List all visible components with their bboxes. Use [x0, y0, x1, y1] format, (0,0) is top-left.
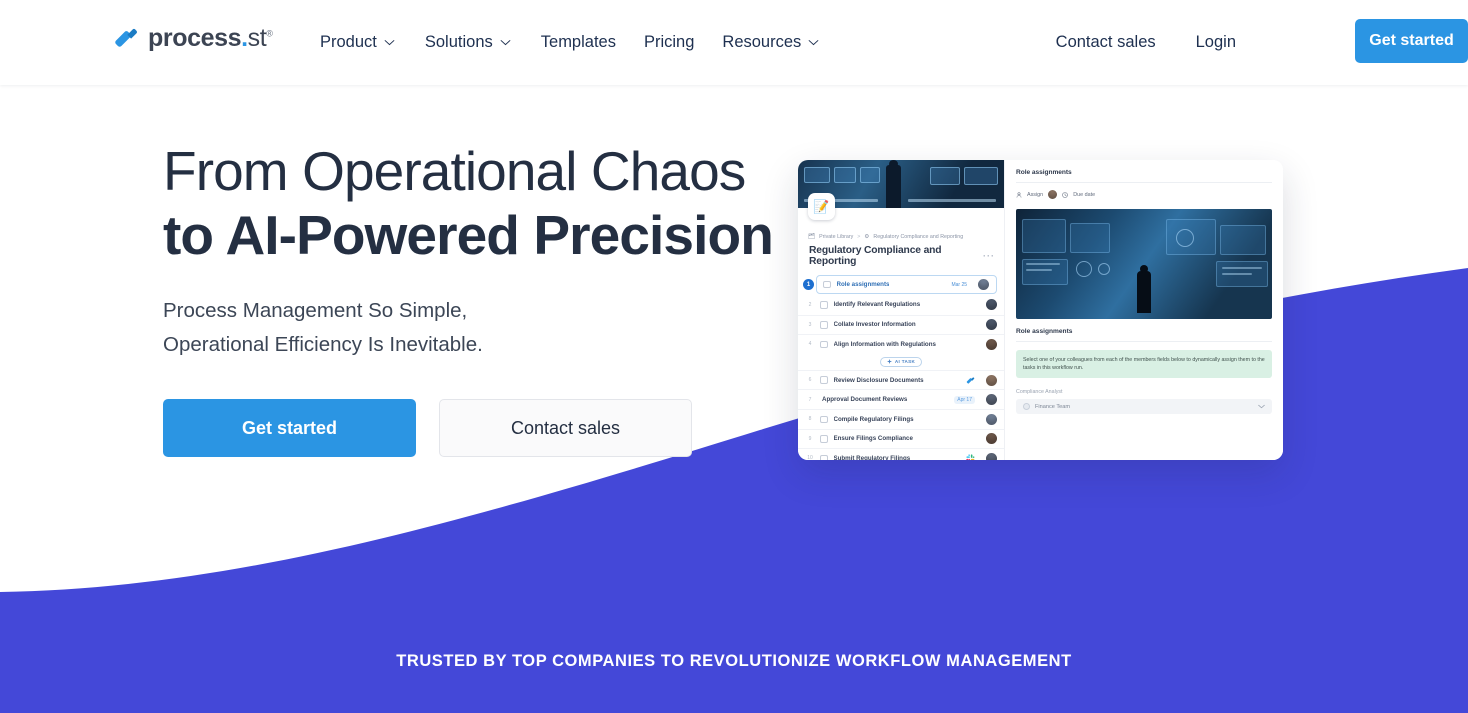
- nav-label-templates: Templates: [541, 33, 616, 52]
- task-label: Collate Investor Information: [834, 321, 916, 328]
- trusted-by-text: TRUSTED BY TOP COMPANIES TO REVOLUTIONIZ…: [396, 652, 1072, 671]
- divider: [1016, 182, 1272, 183]
- detail-meta-row: Assign Due date: [1016, 190, 1272, 199]
- task-detail-panel: Role assignments Assign Due date: [1005, 160, 1283, 460]
- task-number: 10: [806, 455, 814, 460]
- hero-get-started-button[interactable]: Get started: [163, 399, 416, 457]
- ai-task-badge-row: AI Task: [798, 354, 1004, 370]
- brand-name-suffix: st: [248, 24, 267, 52]
- task-row[interactable]: 3 Collate Investor Information: [798, 315, 1004, 335]
- breadcrumb-library[interactable]: Private Library: [819, 234, 853, 240]
- clock-icon: [1062, 192, 1068, 198]
- hero-section: From Operational Chaos to AI-Powered Pre…: [163, 140, 823, 457]
- avatar[interactable]: [1048, 190, 1057, 199]
- avatar[interactable]: [986, 394, 997, 405]
- workflow-icon: ⚙: [864, 234, 869, 240]
- workflow-doc-icon: 📝: [808, 193, 835, 220]
- slack-icon: [966, 454, 975, 460]
- task-row[interactable]: 2 Identify Relevant Regulations: [798, 295, 1004, 315]
- task-number: 6: [806, 377, 814, 383]
- task-number: 7: [806, 397, 814, 403]
- task-checkbox[interactable]: [820, 321, 828, 329]
- task-row[interactable]: 6 Review Disclosure Documents: [798, 370, 1004, 390]
- chevron-down-icon: [384, 39, 395, 46]
- brand-name-main: process: [148, 24, 241, 52]
- detail-section-heading: Role assignments: [1016, 328, 1272, 335]
- task-label: Identify Relevant Regulations: [834, 301, 921, 308]
- assign-label[interactable]: Assign: [1027, 192, 1043, 198]
- task-label: Align Information with Regulations: [834, 341, 936, 348]
- nav-item-templates[interactable]: Templates: [541, 25, 616, 60]
- chevron-down-icon: [1258, 404, 1265, 409]
- nav-label-pricing: Pricing: [644, 33, 694, 52]
- task-label: Submit Regulatory Filings: [834, 455, 911, 460]
- task-number: 8: [806, 416, 814, 422]
- main-navigation: Product Solutions Templates Pricing: [320, 0, 835, 85]
- task-number: 2: [806, 302, 814, 308]
- avatar-placeholder-icon: [1023, 403, 1030, 410]
- task-row[interactable]: 9 Ensure Filings Compliance: [798, 429, 1004, 449]
- task-row[interactable]: 7 Approval Document Reviews Apr 17: [798, 389, 1004, 409]
- brand-logo[interactable]: process.st®: [113, 25, 273, 51]
- task-row[interactable]: 10 Submit Regulatory Filings: [798, 448, 1004, 460]
- task-due-date: Apr 17: [954, 396, 975, 404]
- nav-item-solutions[interactable]: Solutions: [425, 25, 527, 60]
- hero-contact-sales-button[interactable]: Contact sales: [439, 399, 692, 457]
- avatar[interactable]: [986, 375, 997, 386]
- task-label: Ensure Filings Compliance: [834, 435, 913, 442]
- workflow-title-text: Regulatory Compliance and Reporting: [809, 245, 983, 267]
- task-list: 1 Role assignments Mar 25 2 Identify Rel…: [798, 275, 1004, 460]
- task-label: Approval Document Reviews: [820, 396, 907, 403]
- due-date-label[interactable]: Due date: [1073, 192, 1095, 198]
- task-number: 9: [806, 436, 814, 442]
- nav-item-pricing[interactable]: Pricing: [644, 25, 694, 60]
- members-select[interactable]: Finance Team: [1016, 399, 1272, 414]
- nav-label-solutions: Solutions: [425, 33, 493, 52]
- task-row[interactable]: 8 Compile Regulatory Filings: [798, 409, 1004, 429]
- task-checkbox[interactable]: [823, 281, 831, 289]
- login-link[interactable]: Login: [1196, 33, 1236, 52]
- avatar[interactable]: [986, 453, 997, 460]
- page-root: process.st® Product Solutions Templates: [0, 0, 1468, 713]
- task-checkbox[interactable]: [820, 301, 828, 309]
- contact-sales-link[interactable]: Contact sales: [1056, 33, 1156, 52]
- avatar[interactable]: [986, 433, 997, 444]
- chevron-down-icon: [808, 39, 819, 46]
- task-checkbox[interactable]: [820, 455, 828, 460]
- task-label: Review Disclosure Documents: [834, 377, 924, 384]
- product-screenshot: 📝 🗂 Private Library > ⚙ Regulatory Compl…: [798, 160, 1283, 460]
- task-checkbox[interactable]: [820, 416, 828, 424]
- avatar[interactable]: [986, 414, 997, 425]
- hero-headline-line2: to AI-Powered Precision: [163, 204, 823, 268]
- hero-subheading: Process Management So Simple, Operationa…: [163, 294, 823, 364]
- brand-wordmark: process.st®: [148, 26, 273, 51]
- breadcrumb: 🗂 Private Library > ⚙ Regulatory Complia…: [808, 234, 1004, 240]
- divider: [1016, 341, 1272, 342]
- person-icon: [1016, 192, 1022, 198]
- avatar[interactable]: [978, 279, 989, 290]
- workflow-task-panel: 📝 🗂 Private Library > ⚙ Regulatory Compl…: [798, 160, 1005, 460]
- hero-headline-line1: From Operational Chaos: [163, 140, 745, 202]
- nav-label-resources: Resources: [722, 33, 801, 52]
- ai-task-badge-label: AI Task: [895, 359, 915, 364]
- hero-subheading-line2: Operational Efficiency Is Inevitable.: [163, 328, 823, 363]
- hero-subheading-line1: Process Management So Simple,: [163, 294, 823, 329]
- instruction-note-line1: Select one of your colleagues from each …: [1023, 357, 1191, 363]
- field-value: Finance Team: [1035, 404, 1070, 410]
- ai-task-badge[interactable]: AI Task: [880, 357, 922, 367]
- task-row[interactable]: Role assignments Mar 25: [816, 275, 997, 294]
- brand-registered-mark: ®: [266, 28, 272, 38]
- detail-hero-image: [1016, 209, 1272, 319]
- avatar[interactable]: [986, 319, 997, 330]
- task-checkbox[interactable]: [820, 341, 828, 349]
- trusted-by-banner: TRUSTED BY TOP COMPANIES TO REVOLUTIONIZ…: [0, 600, 1468, 713]
- task-label: Compile Regulatory Filings: [834, 416, 914, 423]
- ai-sparkle-icon: [887, 359, 892, 364]
- nav-label-product: Product: [320, 33, 377, 52]
- task-label: Role assignments: [837, 281, 890, 288]
- workflow-more-menu-icon[interactable]: ···: [983, 251, 995, 261]
- breadcrumb-current: Regulatory Compliance and Reporting: [873, 234, 963, 240]
- breadcrumb-separator: >: [857, 234, 860, 240]
- task-checkbox[interactable]: [820, 376, 828, 384]
- field-label: Compliance Analyst: [1016, 389, 1272, 395]
- workflow-title: Regulatory Compliance and Reporting ···: [809, 245, 995, 267]
- avatar[interactable]: [986, 299, 997, 310]
- task-row[interactable]: 4 Align Information with Regulations: [798, 334, 1004, 354]
- process-st-logo-icon: [966, 376, 975, 385]
- task-due-date: Mar 25: [951, 282, 967, 288]
- header-actions: Contact sales Login Get started: [1056, 0, 1468, 85]
- instruction-note: Select one of your colleagues from each …: [1016, 350, 1272, 378]
- task-checkbox[interactable]: [820, 435, 828, 443]
- hero-headline: From Operational Chaos to AI-Powered Pre…: [163, 140, 823, 268]
- task-number: 3: [806, 322, 814, 328]
- library-icon: 🗂: [808, 234, 815, 240]
- detail-heading: Role assignments: [1016, 169, 1272, 176]
- header-get-started-button[interactable]: Get started: [1355, 19, 1468, 63]
- nav-item-resources[interactable]: Resources: [722, 25, 835, 60]
- process-st-logo-icon: [113, 25, 139, 51]
- chevron-down-icon: [500, 39, 511, 46]
- hero-cta-group: Get started Contact sales: [163, 399, 823, 457]
- nav-item-product[interactable]: Product: [320, 25, 411, 60]
- task-number-badge: 1: [803, 279, 814, 290]
- site-header: process.st® Product Solutions Templates: [0, 0, 1468, 85]
- avatar[interactable]: [986, 339, 997, 350]
- task-number: 4: [806, 341, 814, 347]
